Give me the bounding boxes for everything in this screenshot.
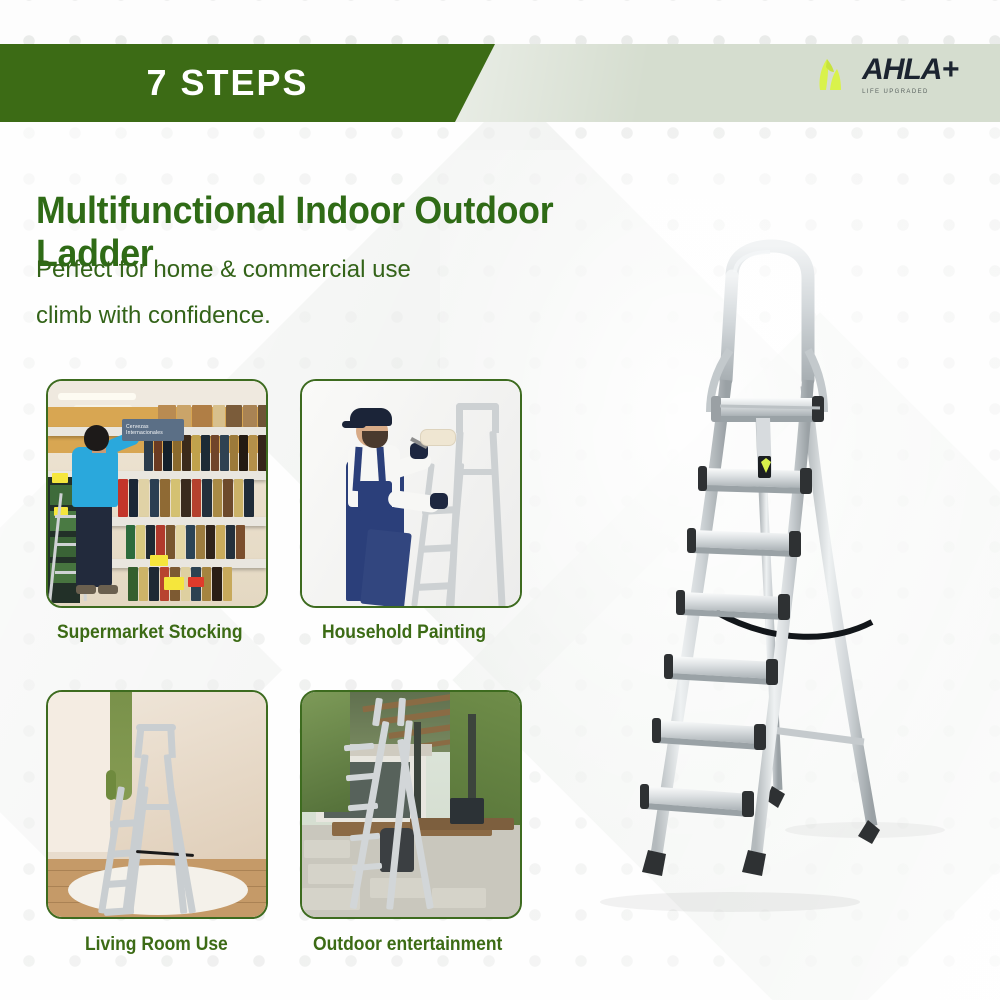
paint-roller	[420, 429, 456, 446]
gallery-thumb-outdoor-entertainment[interactable]	[300, 690, 522, 919]
gallery-caption-painting: Household Painting	[322, 622, 486, 644]
gallery-caption-supermarket: Supermarket Stocking	[57, 622, 243, 644]
brand-text: AHLA+ LIFE UPGRADED	[862, 55, 958, 95]
header-banner: 7 STEPS AHLA+ LIFE UPGRADED	[0, 44, 1000, 122]
ahla-mountain-mark-icon	[806, 52, 852, 98]
subtitle-line-2: climb with confidence.	[36, 302, 271, 330]
gallery-thumb-household-painting[interactable]	[300, 379, 522, 608]
ladder-in-photo	[340, 698, 462, 910]
ladder-in-photo	[102, 724, 228, 916]
steps-badge-label: 7 STEPS	[0, 44, 455, 122]
gallery-caption-outdoor: Outdoor entertainment	[313, 934, 502, 956]
product-hero-ladder	[520, 230, 990, 930]
shelf-crate: CervezasInternacionales	[122, 419, 184, 441]
outdoor-entertainment-photo	[302, 692, 520, 917]
gallery-thumb-living-room[interactable]	[46, 690, 268, 919]
living-room-use-photo	[48, 692, 266, 917]
poster-canvas: 7 STEPS AHLA+ LIFE UPGRADED Multifunctio…	[0, 0, 1000, 1000]
gallery-caption-living-room: Living Room Use	[85, 934, 228, 956]
brand-logo: AHLA+ LIFE UPGRADED	[806, 52, 958, 98]
subtitle-line-1: Perfect for home & commercial use	[36, 256, 411, 284]
brand-name: AHLA+	[862, 55, 958, 85]
supermarket-stocking-photo: CervezasInternacionales	[48, 381, 266, 606]
brand-tagline: LIFE UPGRADED	[862, 89, 929, 95]
gallery-thumb-supermarket-stocking[interactable]: CervezasInternacionales	[46, 379, 268, 608]
household-painting-photo	[302, 381, 520, 606]
